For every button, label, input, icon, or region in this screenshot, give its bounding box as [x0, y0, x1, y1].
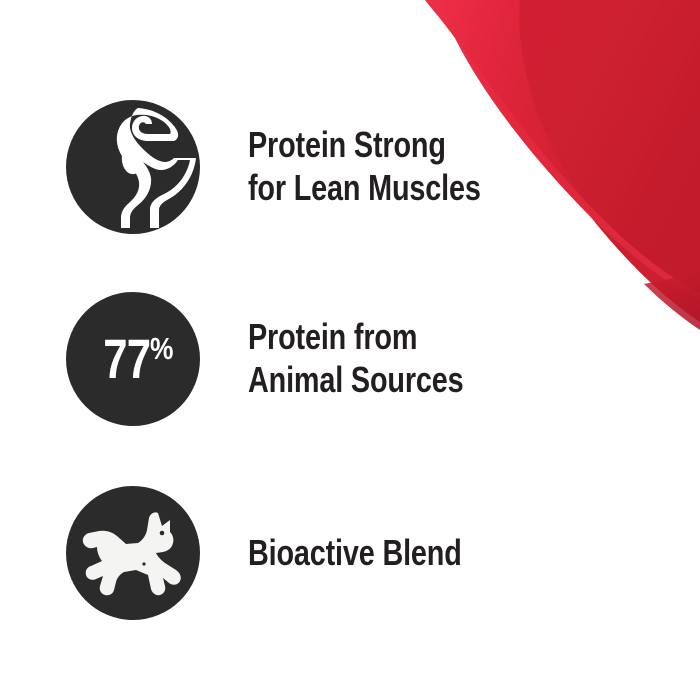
benefit-row: 77% Protein from Animal Sources — [66, 292, 668, 426]
percent-symbol: % — [150, 333, 173, 364]
icon-disc — [66, 100, 200, 234]
benefit-text: Protein Strong for Lean Muscles — [248, 124, 584, 210]
running-dog-icon — [66, 486, 200, 620]
percent-number: 77 — [103, 331, 150, 387]
benefit-list: Protein Strong for Lean Muscles 77% Prot… — [0, 0, 700, 700]
benefit-row: Protein Strong for Lean Muscles — [66, 100, 668, 234]
benefit-text: Protein from Animal Sources — [248, 316, 584, 402]
percent-77-badge: 77% — [66, 292, 200, 426]
benefit-text: Bioactive Blend — [248, 532, 584, 575]
infographic-panel: Protein Strong for Lean Muscles 77% Prot… — [0, 0, 700, 700]
benefit-row: Bioactive Blend — [66, 486, 668, 620]
percent-value: 77% — [66, 292, 200, 426]
dog-muscle-icon — [66, 100, 200, 234]
